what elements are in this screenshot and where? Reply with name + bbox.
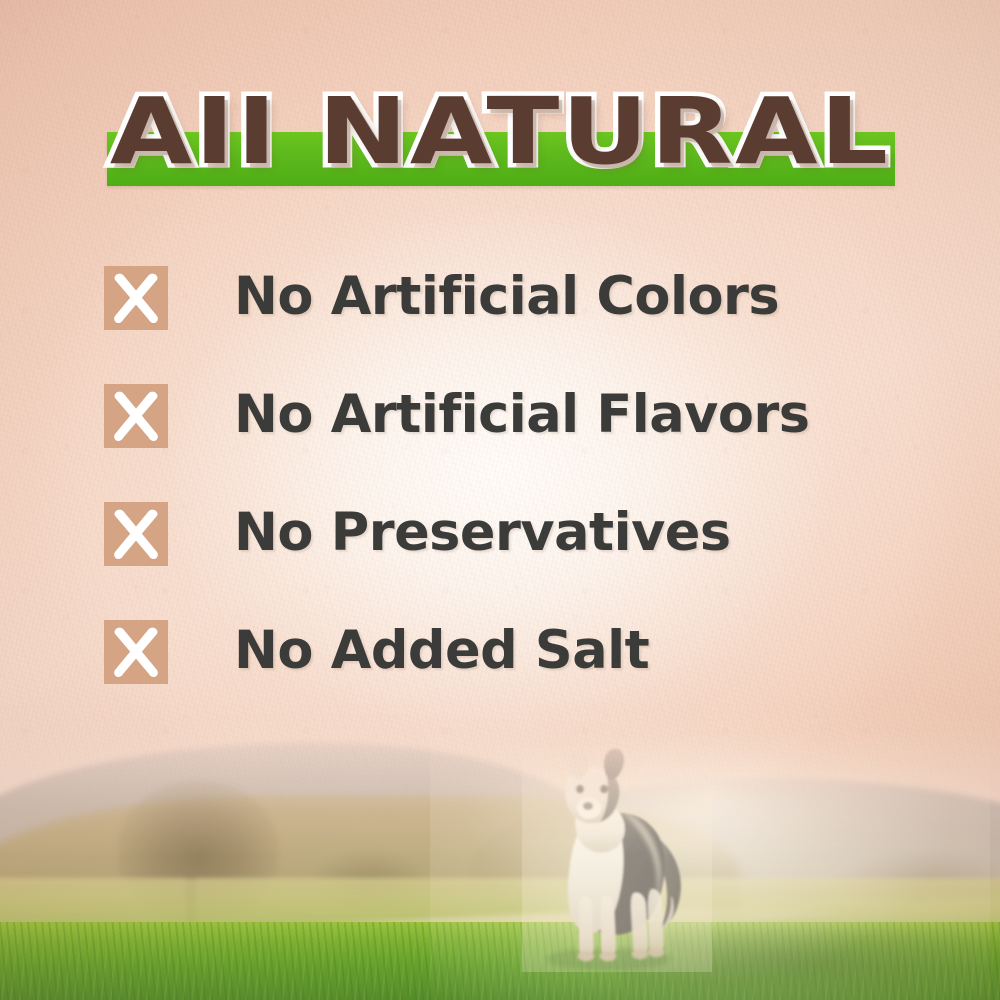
- x-mark-icon: [104, 620, 168, 684]
- dog-illustration: [522, 747, 712, 972]
- landscape-photo: [0, 700, 1000, 1000]
- feature-label: No Artificial Colors: [234, 258, 779, 336]
- feature-label: No Preservatives: [234, 494, 731, 572]
- list-item: No Artificial Flavors: [104, 384, 924, 502]
- headline-banner: AII NATURAL: [0, 84, 1000, 194]
- list-item: No Preservatives: [104, 502, 924, 620]
- list-item: No Added Salt: [104, 620, 924, 738]
- feature-label: No Added Salt: [234, 612, 649, 690]
- list-item: No Artificial Colors: [104, 266, 924, 384]
- feature-list: No Artificial Colors No Artificial Flavo…: [104, 266, 924, 738]
- x-mark-icon: [104, 502, 168, 566]
- headline-title: AII NATURAL: [0, 84, 1000, 180]
- product-feature-card: AII NATURAL No Artificial Colors No Arti…: [0, 0, 1000, 1000]
- x-mark-icon: [104, 266, 168, 330]
- feature-label: No Artificial Flavors: [234, 376, 810, 454]
- x-mark-icon: [104, 384, 168, 448]
